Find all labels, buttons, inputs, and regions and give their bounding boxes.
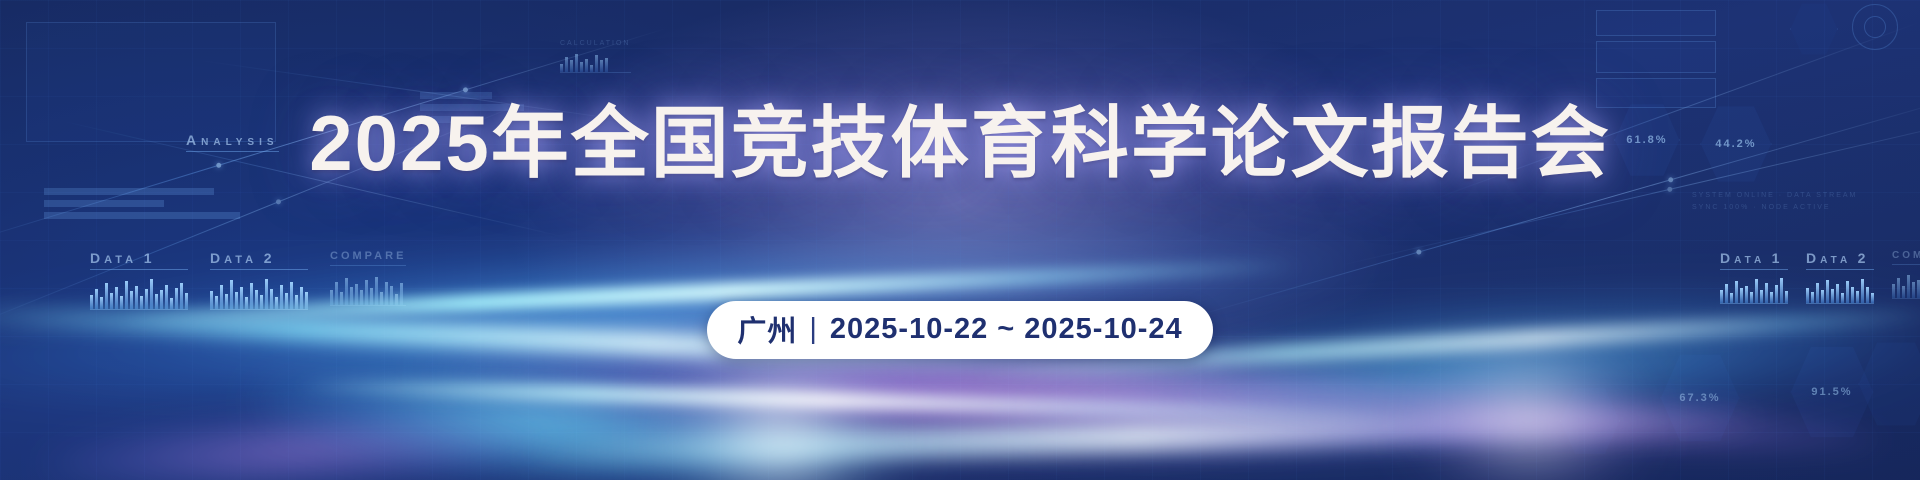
event-city: 广州 [737, 308, 797, 350]
event-info-pill: 广州 | 2025-10-22 ~ 2025-10-24 [707, 301, 1212, 359]
event-date-range: 2025-10-22 ~ 2025-10-24 [830, 313, 1183, 346]
pill-separator: | [809, 313, 818, 346]
conference-banner: ANALYSIS DATA 1 DATA 2 [0, 0, 1920, 480]
banner-text-content: 2025年全国竞技体育科学论文报告会 广州 | 2025-10-22 ~ 202… [0, 0, 1920, 480]
page-title: 2025年全国竞技体育科学论文报告会 [0, 104, 1920, 182]
